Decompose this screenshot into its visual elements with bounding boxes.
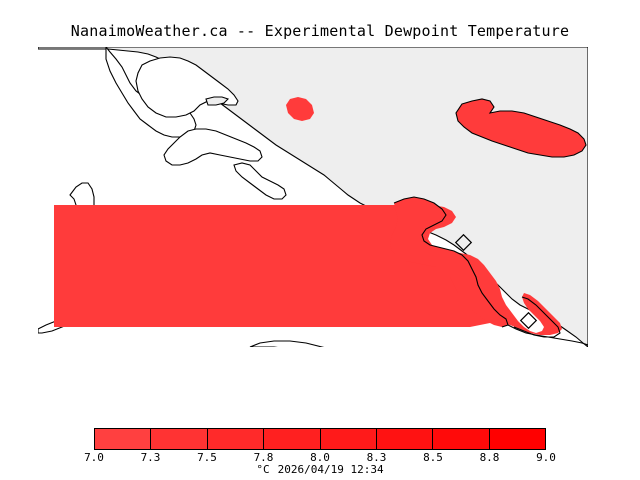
colorbar-band-0 bbox=[95, 429, 151, 449]
map-canvas[interactable] bbox=[38, 47, 588, 347]
colorbar-unit: °C bbox=[256, 463, 269, 476]
colorbar-band-1 bbox=[151, 429, 207, 449]
page-title: NanaimoWeather.ca -- Experimental Dewpoi… bbox=[0, 22, 640, 40]
colorbar-timestamp: 2026/04/19 12:34 bbox=[278, 463, 384, 476]
colorbar-band-5 bbox=[377, 429, 433, 449]
colorbar-band-3 bbox=[264, 429, 320, 449]
weather-map-page: NanaimoWeather.ca -- Experimental Dewpoi… bbox=[0, 0, 640, 480]
colorbar-band-2 bbox=[208, 429, 264, 449]
map-panel[interactable] bbox=[38, 47, 588, 347]
colorbar-gradient[interactable] bbox=[94, 428, 546, 450]
colorbar-band-6 bbox=[433, 429, 489, 449]
colorbar-band-4 bbox=[321, 429, 377, 449]
colorbar[interactable] bbox=[94, 428, 546, 450]
colorbar-band-7 bbox=[490, 429, 545, 449]
colorbar-caption: °C2026/04/19 12:34 bbox=[0, 463, 640, 476]
